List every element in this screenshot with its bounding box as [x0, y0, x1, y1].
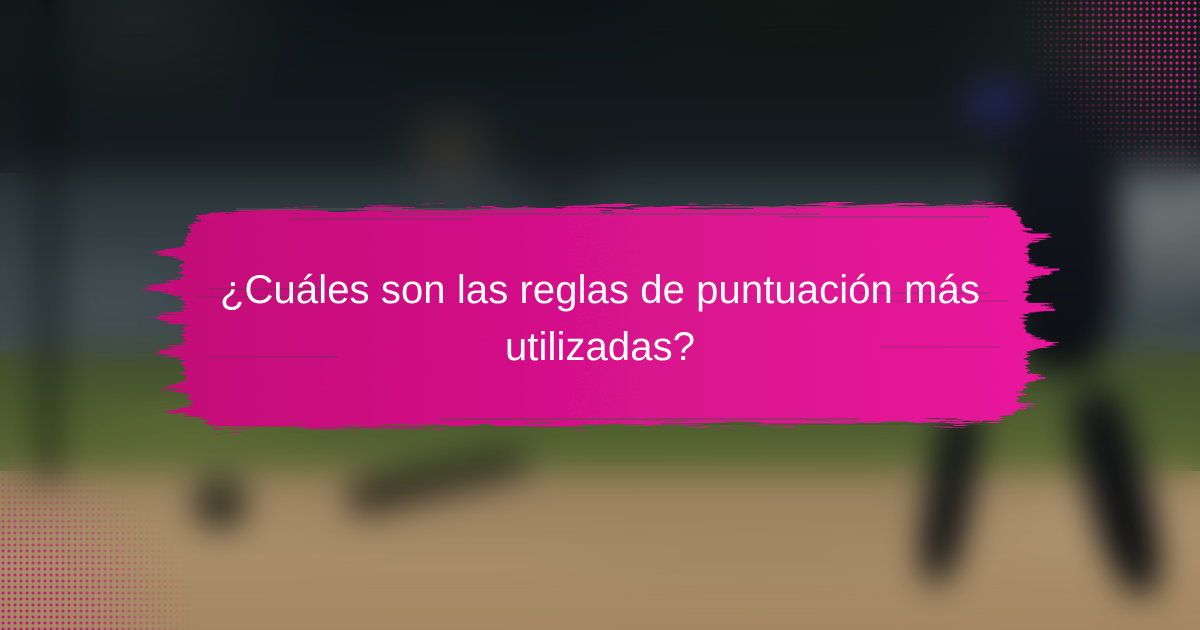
halftone-dots-top-right-icon	[1000, 0, 1200, 210]
card-headline: ¿Cuáles son las reglas de puntuación más…	[200, 262, 1000, 376]
social-share-card: AC	[0, 0, 1200, 630]
halftone-dots-bottom-left-icon	[0, 440, 215, 630]
